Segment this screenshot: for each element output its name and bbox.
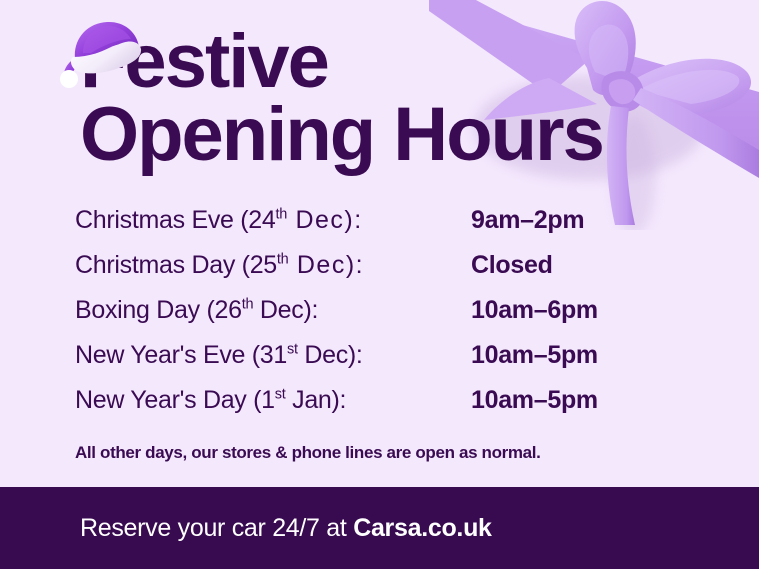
hours-time-value: Closed bbox=[471, 251, 553, 280]
footer-cta-lead: Reserve your car 24/7 at bbox=[80, 514, 353, 542]
table-row: Christmas Eve (24th Dec): 9am–2pm bbox=[75, 206, 695, 251]
table-row: New Year's Eve (31st Dec): 10am–5pm bbox=[75, 341, 695, 386]
table-row: Christmas Day (25th Dec): Closed bbox=[75, 251, 695, 296]
hours-day-label: New Year's Eve (31st Dec): bbox=[75, 341, 471, 370]
footnote-text: All other days, our stores & phone lines… bbox=[75, 443, 541, 463]
hours-day-label: Christmas Eve (24th Dec): bbox=[75, 206, 471, 235]
footer-bar: Reserve your car 24/7 at Carsa.co.uk bbox=[0, 487, 759, 569]
footer-brand-link[interactable]: Carsa.co.uk bbox=[353, 514, 491, 542]
festive-opening-hours-poster: Festive Opening Hours Christmas Eve (24t… bbox=[0, 0, 759, 569]
hours-day-label: Christmas Day (25th Dec): bbox=[75, 251, 471, 280]
page-title-line-1: Festive bbox=[80, 26, 680, 99]
hours-time-value: 10am–5pm bbox=[471, 341, 598, 370]
hours-day-label: Boxing Day (26th Dec): bbox=[75, 296, 471, 325]
page-title-line-2: Opening Hours bbox=[80, 99, 680, 172]
hours-time-value: 10am–5pm bbox=[471, 386, 598, 415]
page-title: Festive Opening Hours bbox=[80, 26, 680, 172]
table-row: New Year's Day (1st Jan): 10am–5pm bbox=[75, 386, 695, 431]
table-row: Boxing Day (26th Dec): 10am–6pm bbox=[75, 296, 695, 341]
opening-hours-table: Christmas Eve (24th Dec): 9am–2pm Christ… bbox=[75, 206, 695, 431]
hours-day-label: New Year's Day (1st Jan): bbox=[75, 386, 471, 415]
hours-time-value: 9am–2pm bbox=[471, 206, 584, 235]
footer-cta-text: Reserve your car 24/7 at Carsa.co.uk bbox=[80, 514, 492, 543]
hours-time-value: 10am–6pm bbox=[471, 296, 598, 325]
